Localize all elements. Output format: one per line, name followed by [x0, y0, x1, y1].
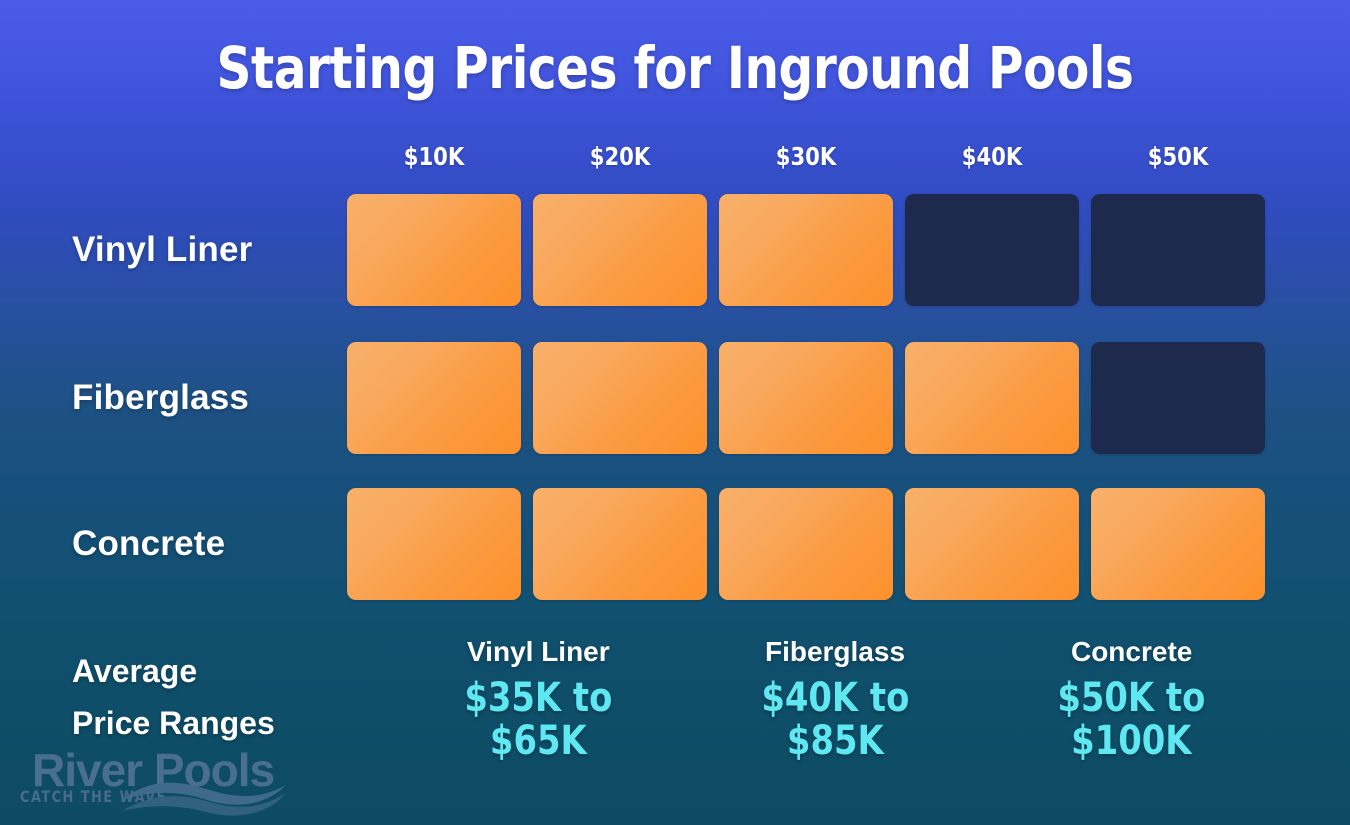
price-range-value: $50K to $100K: [992, 677, 1271, 763]
row-label-vinyl-liner: Vinyl Liner: [0, 230, 347, 270]
price-range-value-line2: $100K: [992, 720, 1271, 763]
bar-cell: [533, 342, 707, 454]
bar-cell: [905, 488, 1079, 600]
row-label-fiberglass: Fiberglass: [0, 378, 347, 418]
bar-cell: [1091, 342, 1265, 454]
price-range-summary: Vinyl Liner $35K to $65K Fiberglass $40K…: [390, 636, 1280, 763]
price-range-value-line1: $35K to: [399, 677, 678, 720]
row-cells-vinyl-liner: [347, 194, 1265, 306]
bar-cell: [905, 194, 1079, 306]
average-price-ranges-label: Average Price Ranges: [72, 645, 275, 749]
bar-cell: [719, 194, 893, 306]
price-range-fiberglass: Fiberglass $40K to $85K: [687, 636, 984, 763]
column-header-10k: $10K: [352, 142, 516, 171]
price-range-value-line1: $40K to: [696, 677, 975, 720]
row-label-concrete: Concrete: [0, 524, 347, 564]
column-header-50k: $50K: [1096, 142, 1260, 171]
price-range-concrete: Concrete $50K to $100K: [983, 636, 1280, 763]
bar-cell: [533, 194, 707, 306]
row-cells-fiberglass: [347, 342, 1265, 454]
bar-cell: [347, 342, 521, 454]
bar-cell: [347, 194, 521, 306]
column-header-30k: $30K: [724, 142, 888, 171]
price-range-value-line2: $85K: [696, 720, 975, 763]
wave-icon: [118, 775, 288, 817]
bar-cell: [1091, 488, 1265, 600]
row-cells-concrete: [347, 488, 1265, 600]
price-range-name: Concrete: [983, 636, 1280, 668]
price-range-value-line1: $50K to: [992, 677, 1271, 720]
column-header-20k: $20K: [538, 142, 702, 171]
column-header-row: $10K $20K $30K $40K $50K: [347, 142, 1265, 171]
price-range-value: $35K to $65K: [399, 677, 678, 763]
price-range-value: $40K to $85K: [696, 677, 975, 763]
bar-cell: [719, 488, 893, 600]
bar-cell: [905, 342, 1079, 454]
chart-row-vinyl-liner: Vinyl Liner: [0, 194, 1350, 306]
column-header-40k: $40K: [910, 142, 1074, 171]
bar-cell: [719, 342, 893, 454]
bar-cell: [533, 488, 707, 600]
bar-cell: [1091, 194, 1265, 306]
price-range-name: Fiberglass: [687, 636, 984, 668]
price-range-vinyl-liner: Vinyl Liner $35K to $65K: [390, 636, 687, 763]
price-range-value-line2: $65K: [399, 720, 678, 763]
chart-row-fiberglass: Fiberglass: [0, 342, 1350, 454]
infographic-canvas: Starting Prices for Inground Pools $10K …: [0, 0, 1350, 825]
river-pools-logo: River Pools CATCH THE WAVE: [18, 739, 286, 817]
price-range-name: Vinyl Liner: [390, 636, 687, 668]
chart-row-concrete: Concrete: [0, 488, 1350, 600]
average-label-line1: Average: [72, 645, 275, 697]
bar-cell: [347, 488, 521, 600]
page-title: Starting Prices for Inground Pools: [47, 34, 1303, 102]
